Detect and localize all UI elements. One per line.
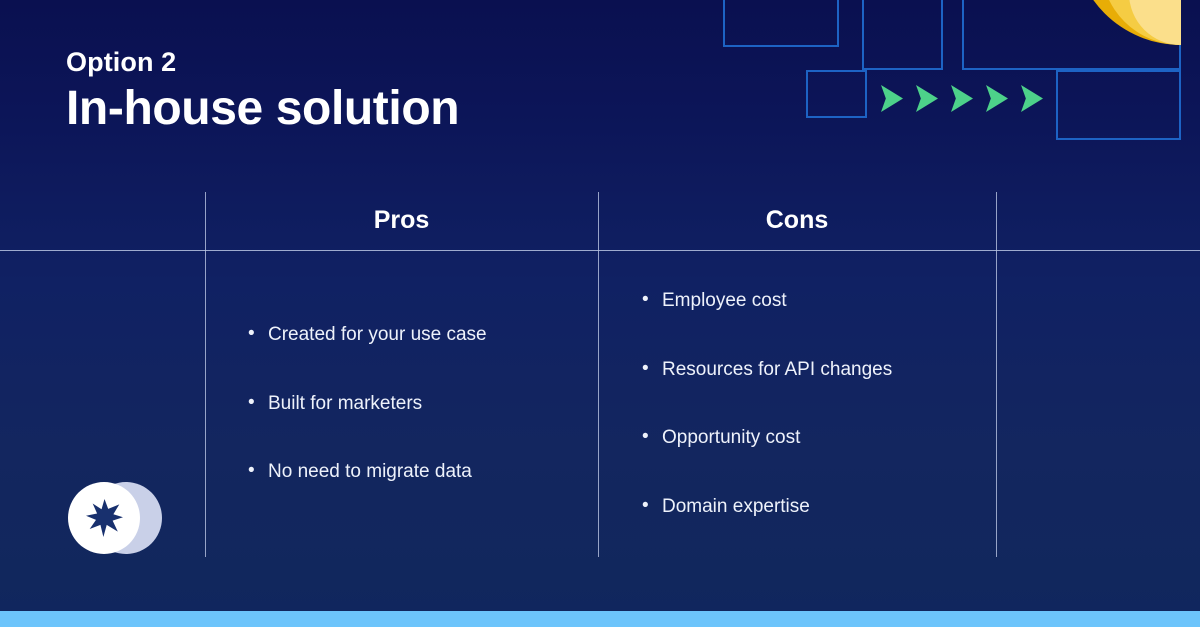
play-triangle-icon-2 bbox=[916, 85, 938, 112]
arc-outer bbox=[1073, 0, 1181, 45]
list-item: Built for marketers bbox=[248, 391, 487, 417]
table-column-divider-left bbox=[205, 192, 206, 557]
decorative-rectangle-3 bbox=[806, 70, 867, 118]
table-column-divider-right bbox=[996, 192, 997, 557]
eyebrow-label: Option 2 bbox=[66, 48, 459, 78]
list-item: Opportunity cost bbox=[642, 425, 892, 451]
heading-block: Option 2 In-house solution bbox=[66, 48, 459, 135]
arc-inner bbox=[1129, 0, 1181, 45]
list-item: Resources for API changes bbox=[642, 357, 892, 383]
decorative-rectangle-4 bbox=[962, 0, 1181, 70]
bottom-accent-strip bbox=[0, 611, 1200, 627]
slide: Option 2 In-house solution Pros Cons Cre… bbox=[0, 0, 1200, 627]
star-icon bbox=[86, 499, 123, 537]
quarter-arc-graphic bbox=[1073, 0, 1181, 45]
play-triangle-icon-4 bbox=[986, 85, 1008, 112]
table-column-divider-middle bbox=[598, 192, 599, 557]
arc-middle bbox=[1101, 0, 1181, 45]
list-item: Created for your use case bbox=[248, 322, 487, 348]
play-triangle-icon-1 bbox=[881, 85, 903, 112]
list-item: Employee cost bbox=[642, 288, 892, 314]
decorative-rectangle-5 bbox=[1056, 70, 1181, 140]
logo-front-circle bbox=[68, 482, 140, 554]
cons-list: Employee cost Resources for API changes … bbox=[642, 288, 892, 563]
column-header-cons: Cons bbox=[598, 206, 996, 235]
play-triangle-icon-3 bbox=[951, 85, 973, 112]
table-header-divider bbox=[0, 250, 1200, 251]
pros-list: Created for your use case Built for mark… bbox=[248, 322, 487, 528]
decorative-rectangle-1 bbox=[723, 0, 839, 47]
page-title: In-house solution bbox=[66, 82, 459, 136]
list-item: Domain expertise bbox=[642, 494, 892, 520]
column-header-pros: Pros bbox=[205, 206, 598, 235]
list-item: No need to migrate data bbox=[248, 459, 487, 485]
decorative-rectangle-2 bbox=[862, 0, 943, 70]
play-triangle-icon-5 bbox=[1021, 85, 1043, 112]
starburst-logo bbox=[68, 482, 152, 554]
